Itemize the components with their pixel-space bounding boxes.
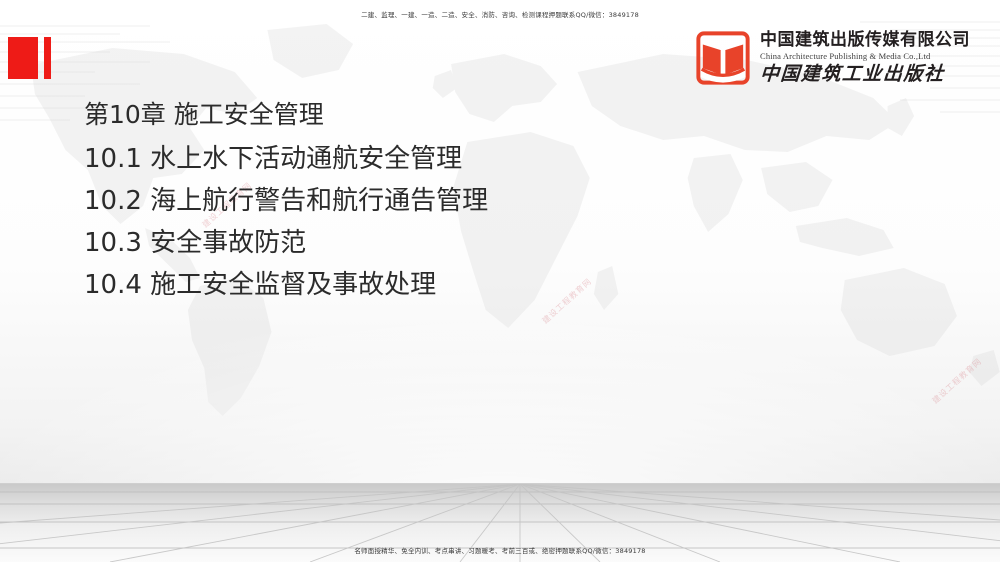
promo-text-top: 二建、监理、一建、一造、二造、安全、消防、咨询、检测课程押题联系QQ/微信：38… <box>0 9 1000 19</box>
toc-item-10-3: 10.3 安全事故防范 <box>84 222 488 264</box>
toc-item-10-4: 10.4 施工安全监督及事故处理 <box>84 264 488 306</box>
publisher-logo-text: 中国建筑出版传媒有限公司 China Architecture Publishi… <box>760 32 970 84</box>
slide-content: 第10章 施工安全管理 10.1 水上水下活动通航安全管理 10.2 海上航行警… <box>84 100 488 306</box>
publisher-logo: 中国建筑出版传媒有限公司 China Architecture Publishi… <box>695 30 970 86</box>
chapter-title: 第10章 施工安全管理 <box>84 100 488 130</box>
open-book-logo-icon <box>695 30 751 86</box>
publisher-company-cn: 中国建筑出版传媒有限公司 <box>760 32 970 49</box>
toc-item-10-2: 10.2 海上航行警告和航行通告管理 <box>84 180 488 222</box>
red-accent-block <box>8 37 38 79</box>
publisher-press-cn: 中国建筑工业出版社 <box>759 65 970 84</box>
red-accent-mark <box>8 37 70 79</box>
red-accent-bar <box>44 37 51 79</box>
presentation-slide: 中国建筑出版传媒有限公司 China Architecture Publishi… <box>0 0 1000 562</box>
toc-item-10-1: 10.1 水上水下活动通航安全管理 <box>84 138 488 180</box>
publisher-company-en: China Architecture Publishing & Media Co… <box>760 52 970 61</box>
promo-text-bottom: 名师面授精华、免全内训、考点串讲、习题暖考、考前三百或、绝密押题联系QQ/微信：… <box>0 545 1000 555</box>
